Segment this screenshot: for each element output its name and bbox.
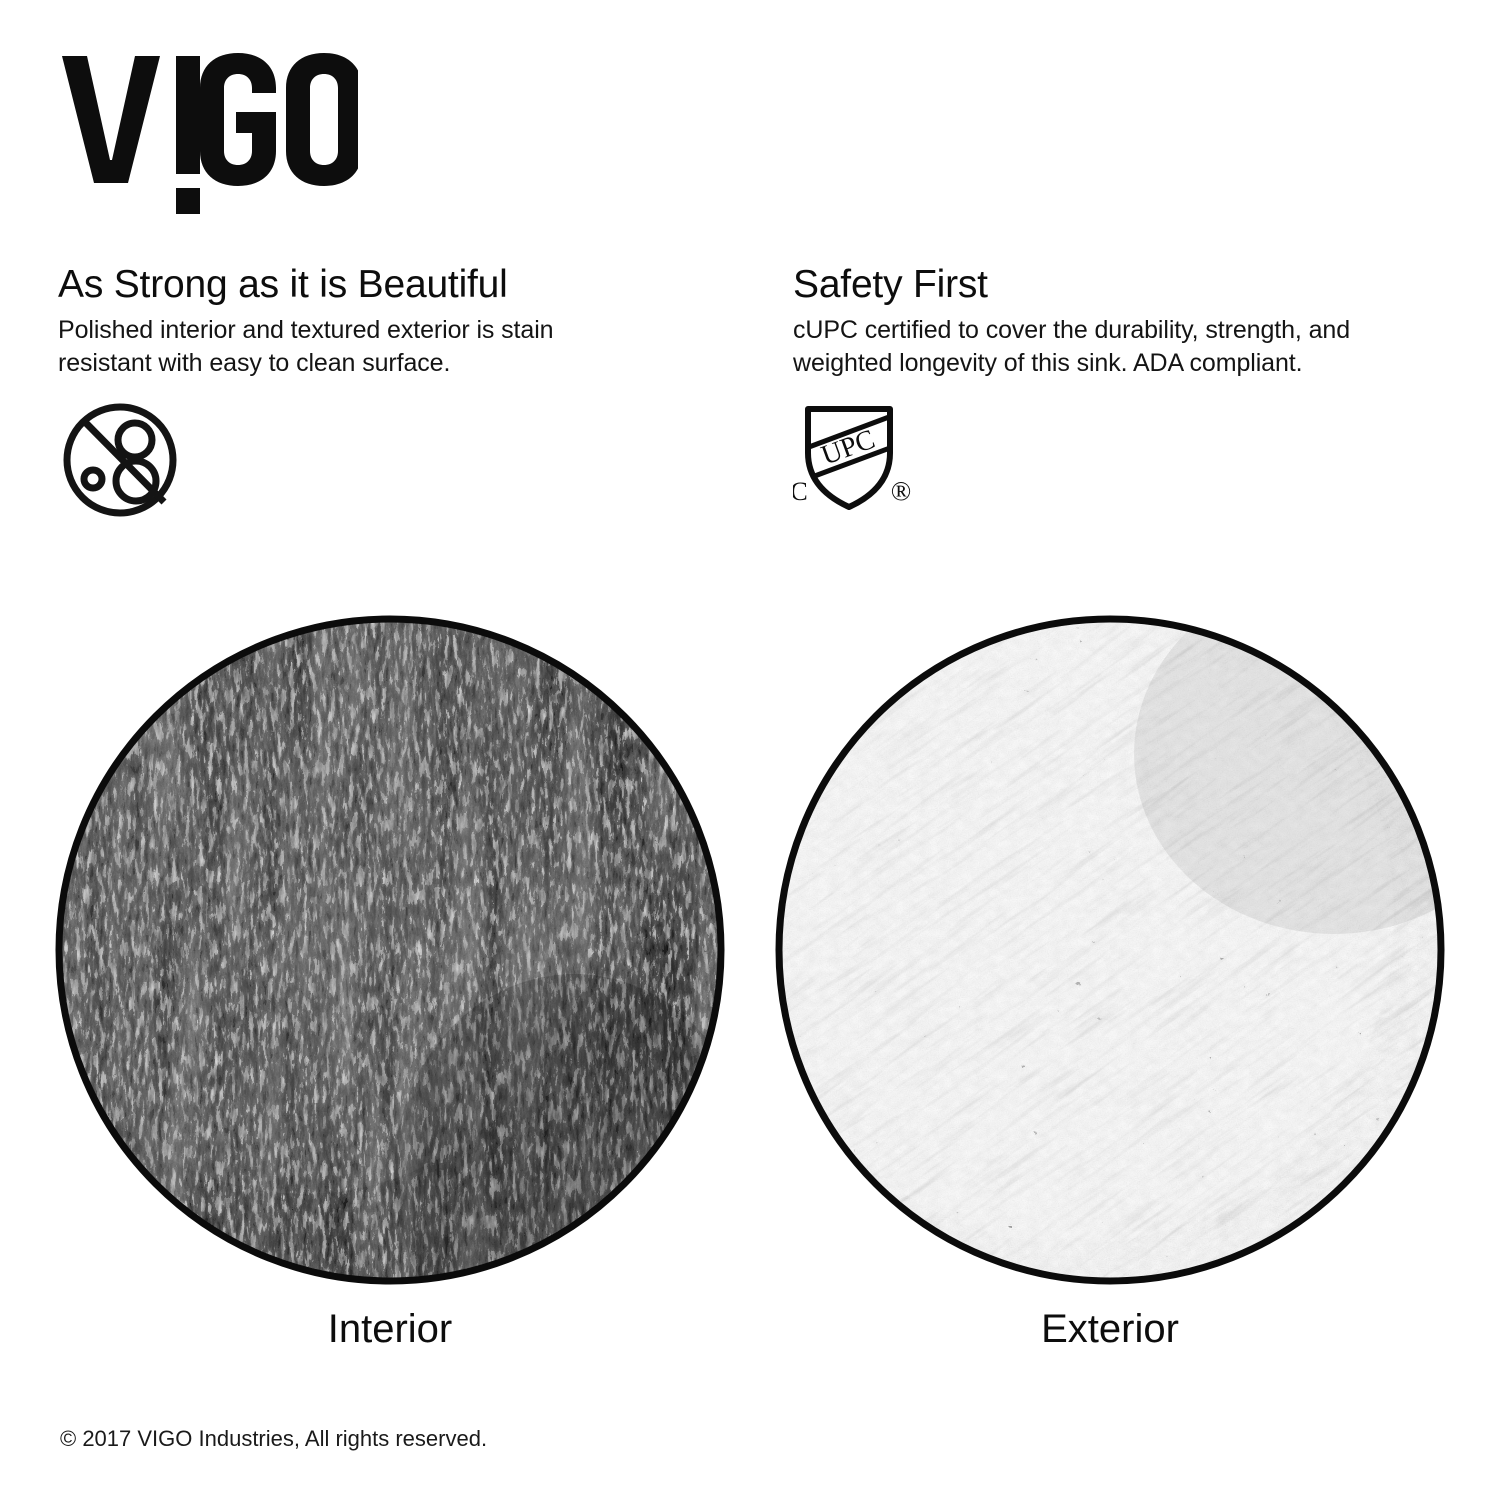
feature-body-line: weighted longevity of this sink. ADA com…: [793, 347, 1453, 380]
feature-body-line: resistant with easy to clean surface.: [58, 347, 658, 380]
registered-mark-icon: ®: [891, 476, 912, 506]
exterior-texture-image: [774, 614, 1446, 1286]
copyright-notice: © 2017 VIGO Industries, All rights reser…: [60, 1425, 487, 1453]
vigo-logo: [58, 48, 358, 218]
cupc-shield-icon: UPC C ®: [793, 403, 913, 515]
no-stain-icon-wrap: [58, 403, 658, 523]
feature-heading: Safety First: [793, 262, 1453, 308]
no-stain-icon: [58, 403, 186, 523]
feature-heading: As Strong as it is Beautiful: [58, 262, 658, 308]
swatch-caption-exterior: Exterior: [774, 1305, 1446, 1353]
cupc-shield-icon-wrap: UPC C ®: [793, 403, 1453, 515]
interior-texture-image: [54, 614, 726, 1286]
feature-body: cUPC certified to cover the durability, …: [793, 314, 1453, 380]
cupc-prefix-letter: C: [793, 477, 808, 506]
swatch-exterior: [774, 614, 1446, 1286]
swatch-caption-interior: Interior: [54, 1305, 726, 1353]
feature-body-line: cUPC certified to cover the durability, …: [793, 314, 1453, 347]
feature-card-page: As Strong as it is Beautiful Polished in…: [0, 0, 1500, 1500]
vigo-wordmark-icon: [58, 48, 358, 218]
feature-body: Polished interior and textured exterior …: [58, 314, 658, 380]
feature-block-safety: Safety First cUPC certified to cover the…: [793, 262, 1453, 515]
swatch-interior: [54, 614, 726, 1286]
feature-block-strength: As Strong as it is Beautiful Polished in…: [58, 262, 658, 523]
feature-body-line: Polished interior and textured exterior …: [58, 314, 658, 347]
